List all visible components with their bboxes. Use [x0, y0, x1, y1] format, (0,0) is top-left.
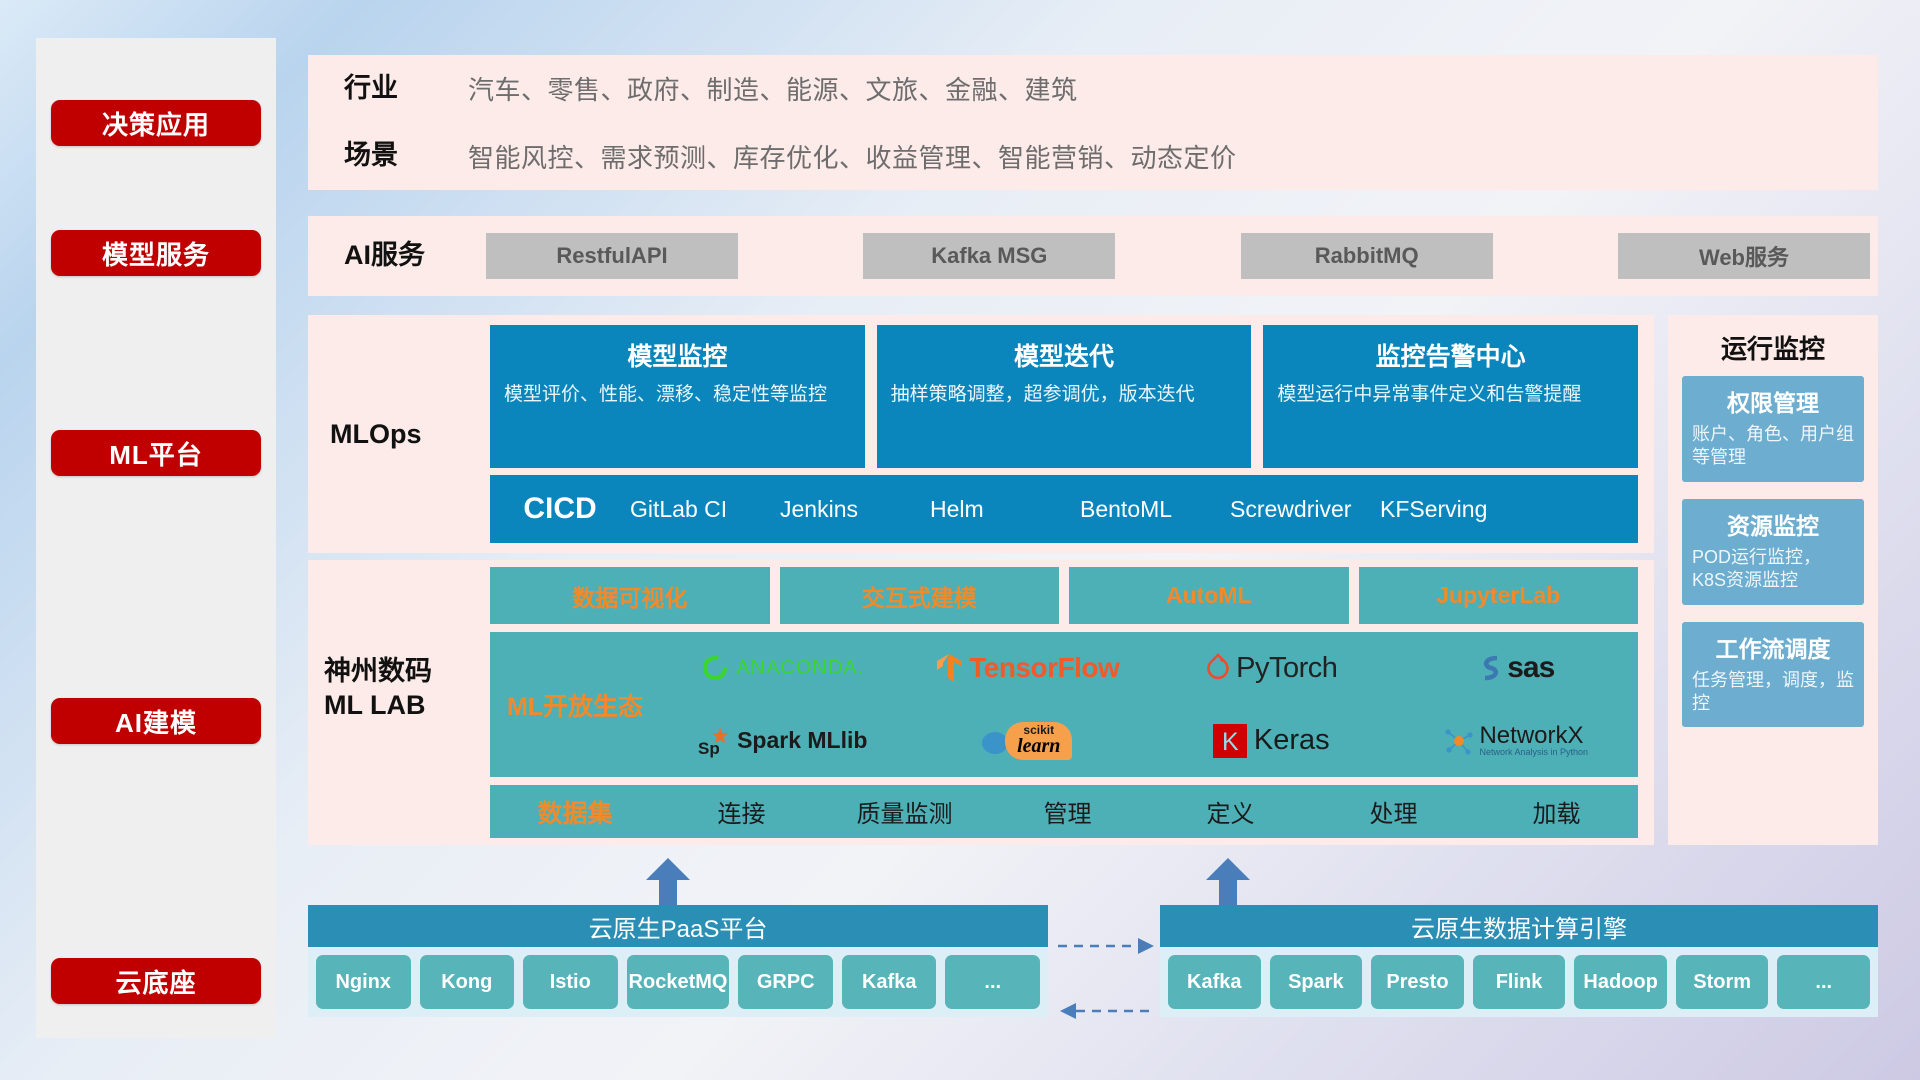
engine-component-spark[interactable]: Spark: [1270, 955, 1363, 1009]
dataset-item-list: 连接 质量监测 管理 定义 处理 加载: [660, 794, 1638, 829]
ai-service-chip-web[interactable]: Web服务: [1618, 233, 1870, 279]
rail-item-label: 决策应用: [102, 105, 210, 142]
dataset-row: 数据集 连接 质量监测 管理 定义 处理 加载: [490, 785, 1638, 838]
tool-automl[interactable]: AutoML: [1069, 567, 1349, 624]
dataset-item-manage[interactable]: 管理: [986, 794, 1149, 829]
tool-data-visualization[interactable]: 数据可视化: [490, 567, 770, 624]
svg-text:Sp: Sp: [698, 739, 720, 758]
ai-service-chip-list: RestfulAPI Kafka MSG RabbitMQ Web服务: [468, 233, 1878, 279]
rail-item-model-service[interactable]: 模型服务: [51, 230, 261, 276]
cloud-paas-component-list: Nginx Kong Istio RocketMQ GRPC Kafka ...: [308, 947, 1048, 1017]
cloud-component-kong[interactable]: Kong: [420, 955, 515, 1009]
rail-item-label: 云底座: [115, 963, 196, 1000]
industry-row: 行业 汽车、零售、政府、制造、能源、文旅、金融、建筑: [308, 55, 1878, 123]
mlops-label: MLOps: [330, 418, 422, 452]
cloud-component-kafka[interactable]: Kafka: [842, 955, 937, 1009]
cloud-engine-component-list: Kafka Spark Presto Flink Hadoop Storm ..…: [1160, 947, 1878, 1017]
cicd-tool-jenkins[interactable]: Jenkins: [780, 496, 930, 522]
ai-service-band: AI服务 RestfulAPI Kafka MSG RabbitMQ Web服务: [308, 216, 1878, 296]
cicd-heading: CICD: [490, 492, 630, 526]
cicd-tool-helm[interactable]: Helm: [930, 496, 1080, 522]
anaconda-logo: ANACONDA.: [700, 653, 864, 683]
card-desc: 账户、角色、用户组等管理: [1692, 423, 1854, 470]
card-title: 工作流调度: [1692, 630, 1854, 664]
pytorch-logo: PyTorch: [1205, 652, 1337, 685]
anaconda-logo-text: ANACONDA.: [736, 657, 864, 680]
cloud-component-nginx[interactable]: Nginx: [316, 955, 411, 1009]
engine-component-flink[interactable]: Flink: [1473, 955, 1566, 1009]
mlops-card-list: 模型监控 模型评价、性能、漂移、稳定性等监控 模型迭代 抽样策略调整，超参调优，…: [490, 325, 1638, 468]
card-title: 权限管理: [1692, 384, 1854, 418]
networkx-logo-text: NetworkX: [1479, 724, 1588, 748]
cicd-tool-list: GitLab CI Jenkins Helm BentoML Screwdriv…: [630, 496, 1638, 522]
ml-lab-label: 神州数码 ML LAB: [324, 655, 432, 723]
rail-item-ai-modeling[interactable]: AI建模: [51, 698, 261, 744]
card-title: 监控告警中心: [1277, 337, 1624, 373]
spark-mllib-logo-text: Spark MLlib: [737, 727, 867, 754]
cloud-paas-title: 云原生PaaS平台: [308, 905, 1048, 947]
rail-item-label: ML平台: [109, 435, 203, 472]
rail-item-label: 模型服务: [102, 235, 210, 272]
runtime-monitoring-title: 运行监控: [1668, 315, 1878, 376]
sas-logo-text: sas: [1507, 651, 1554, 685]
cloud-component-more[interactable]: ...: [945, 955, 1040, 1009]
rail-item-decision-app[interactable]: 决策应用: [51, 100, 261, 146]
industry-values: 汽车、零售、政府、制造、能源、文旅、金融、建筑: [468, 70, 1078, 107]
scenario-row: 场景 智能风控、需求预测、库存优化、收益管理、智能营销、动态定价: [308, 123, 1878, 191]
pytorch-logo-text: PyTorch: [1236, 652, 1337, 685]
engine-up-arrow: [1200, 858, 1256, 906]
cicd-tool-bentoml[interactable]: BentoML: [1080, 496, 1230, 522]
tensorflow-logo: TensorFlow: [934, 652, 1119, 684]
card-desc: 模型评价、性能、漂移、稳定性等监控: [504, 382, 851, 408]
stack-layer-rail: 决策应用 模型服务 ML平台 AI建模 云底座: [36, 38, 276, 1038]
ai-service-chip-restfulapi[interactable]: RestfulAPI: [486, 233, 738, 279]
monitor-card-permission[interactable]: 权限管理 账户、角色、用户组等管理: [1682, 376, 1864, 482]
cicd-tool-kfserving[interactable]: KFServing: [1380, 496, 1530, 522]
industry-label: 行业: [344, 72, 468, 106]
card-title: 模型迭代: [891, 337, 1238, 373]
ai-service-chip-rabbitmq[interactable]: RabbitMQ: [1241, 233, 1493, 279]
ml-ecosystem-heading: ML开放生态: [490, 687, 660, 723]
dataflow-arrow-right: [1058, 935, 1156, 957]
cloud-paas-block: 云原生PaaS平台 Nginx Kong Istio RocketMQ GRPC…: [308, 905, 1048, 1017]
cloud-engine-block: 云原生数据计算引擎 Kafka Spark Presto Flink Hadoo…: [1160, 905, 1878, 1017]
dataset-item-quality-monitor[interactable]: 质量监测: [823, 794, 986, 829]
spark-mllib-logo: Sp Spark MLlib: [697, 724, 867, 758]
mlops-card-model-monitoring[interactable]: 模型监控 模型评价、性能、漂移、稳定性等监控: [490, 325, 865, 468]
dataflow-arrow-left: [1058, 1000, 1156, 1022]
ai-service-chip-kafka-msg[interactable]: Kafka MSG: [863, 233, 1115, 279]
engine-component-hadoop[interactable]: Hadoop: [1574, 955, 1667, 1009]
cloud-component-grpc[interactable]: GRPC: [738, 955, 833, 1009]
cicd-tool-screwdriver[interactable]: Screwdriver: [1230, 496, 1380, 522]
scenario-values: 智能风控、需求预测、库存优化、收益管理、智能营销、动态定价: [468, 138, 1237, 175]
dataset-item-define[interactable]: 定义: [1149, 794, 1312, 829]
dataset-item-load[interactable]: 加载: [1475, 794, 1638, 829]
cloud-engine-title: 云原生数据计算引擎: [1160, 905, 1878, 947]
scikit-learn-logo: scikit learn: [981, 722, 1072, 760]
card-desc: 抽样策略调整，超参调优，版本迭代: [891, 382, 1238, 408]
card-desc: POD运行监控，K8S资源监控: [1692, 546, 1854, 593]
ml-ecosystem-row: ML开放生态 ANACONDA. TensorFlow PyTorch sas …: [490, 632, 1638, 777]
tool-interactive-modeling[interactable]: 交互式建模: [780, 567, 1060, 624]
cloud-component-rocketmq[interactable]: RocketMQ: [627, 955, 730, 1009]
keras-logo-text: Keras: [1254, 724, 1330, 757]
networkx-logo: NetworkX Network Analysis in Python: [1443, 724, 1588, 757]
paas-up-arrow: [640, 858, 696, 906]
ml-lab-label-line1: 神州数码: [324, 655, 432, 689]
dataset-item-connect[interactable]: 连接: [660, 794, 823, 829]
engine-component-storm[interactable]: Storm: [1676, 955, 1769, 1009]
ml-ecosystem-logo-grid: ANACONDA. TensorFlow PyTorch sas Sp Spar…: [660, 632, 1638, 777]
rail-item-ml-platform[interactable]: ML平台: [51, 430, 261, 476]
engine-component-kafka[interactable]: Kafka: [1168, 955, 1261, 1009]
engine-component-presto[interactable]: Presto: [1371, 955, 1464, 1009]
modeling-tool-list: 数据可视化 交互式建模 AutoML JupyterLab: [490, 567, 1638, 624]
card-desc: 任务管理，调度，监控: [1692, 669, 1854, 716]
engine-component-more[interactable]: ...: [1777, 955, 1870, 1009]
rail-item-label: AI建模: [115, 703, 197, 740]
card-title: 模型监控: [504, 337, 851, 373]
scenario-label: 场景: [344, 139, 468, 173]
dataset-heading: 数据集: [490, 794, 660, 830]
card-desc: 模型运行中异常事件定义和告警提醒: [1277, 382, 1624, 408]
keras-logo: K Keras: [1213, 724, 1330, 758]
tool-jupyterlab[interactable]: JupyterLab: [1359, 567, 1639, 624]
ai-service-label: AI服务: [344, 239, 468, 273]
dataset-item-process[interactable]: 处理: [1312, 794, 1475, 829]
ml-lab-label-line2: ML LAB: [324, 689, 432, 723]
svg-text:K: K: [1222, 728, 1239, 756]
tensorflow-logo-text: TensorFlow: [969, 652, 1119, 684]
mlops-card-alert-center[interactable]: 监控告警中心 模型运行中异常事件定义和告警提醒: [1263, 325, 1638, 468]
runtime-monitoring-panel: 运行监控 权限管理 账户、角色、用户组等管理 资源监控 POD运行监控，K8S资…: [1668, 315, 1878, 845]
rail-item-cloud-base[interactable]: 云底座: [51, 958, 261, 1004]
card-title: 资源监控: [1692, 507, 1854, 541]
monitor-card-resource[interactable]: 资源监控 POD运行监控，K8S资源监控: [1682, 499, 1864, 605]
mlops-card-model-iteration[interactable]: 模型迭代 抽样策略调整，超参调优，版本迭代: [877, 325, 1252, 468]
decision-application-band: 行业 汽车、零售、政府、制造、能源、文旅、金融、建筑 场景 智能风控、需求预测、…: [308, 55, 1878, 190]
sas-logo: sas: [1477, 651, 1554, 685]
cloud-component-istio[interactable]: Istio: [523, 955, 618, 1009]
cicd-tool-gitlab-ci[interactable]: GitLab CI: [630, 496, 780, 522]
cicd-bar: CICD GitLab CI Jenkins Helm BentoML Scre…: [490, 475, 1638, 543]
monitor-card-workflow[interactable]: 工作流调度 任务管理，调度，监控: [1682, 622, 1864, 728]
